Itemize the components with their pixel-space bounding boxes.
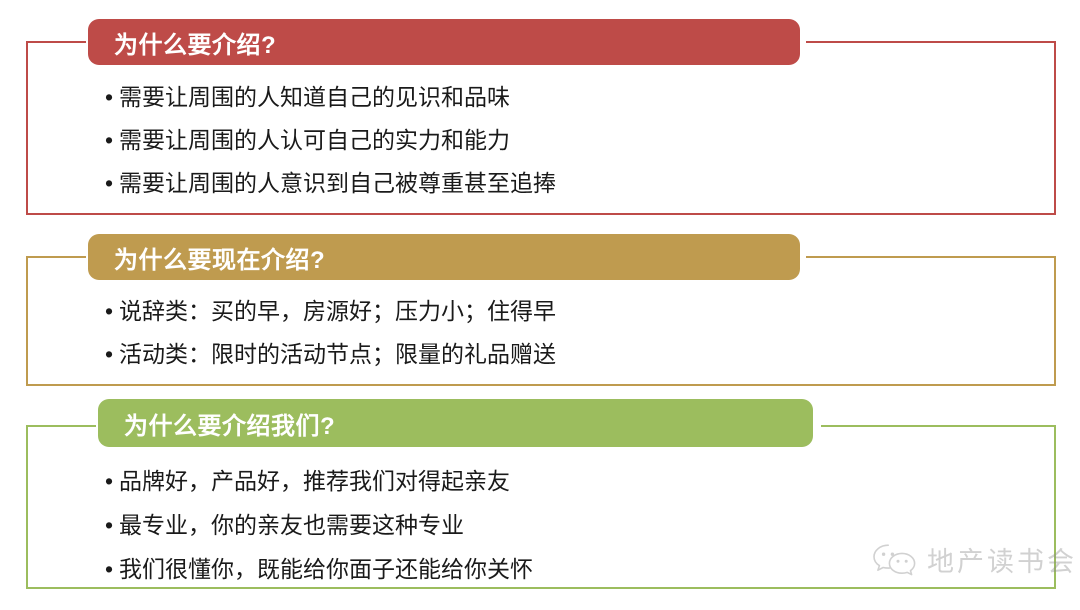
- bullet-icon: •: [105, 558, 119, 581]
- list-item: • 品牌好，产品好，推荐我们对得起亲友: [105, 470, 965, 493]
- list-item: • 需要让周围的人认可自己的实力和能力: [105, 129, 965, 152]
- list-item: • 需要让周围的人知道自己的见识和品味: [105, 86, 965, 109]
- bullet-icon: •: [105, 86, 119, 109]
- list-item-text: 需要让周围的人认可自己的实力和能力: [119, 129, 510, 152]
- list-item: • 需要让周围的人意识到自己被尊重甚至追捧: [105, 172, 965, 195]
- slide-canvas: 为什么要介绍? • 需要让周围的人知道自己的见识和品味 • 需要让周围的人认可自…: [0, 0, 1080, 610]
- bullet-icon: •: [105, 470, 119, 493]
- bullet-icon: •: [105, 129, 119, 152]
- bullet-icon: •: [105, 172, 119, 195]
- section-header-pill: 为什么要介绍我们?: [98, 399, 813, 447]
- list-item-text: 我们很懂你，既能给你面子还能给你关怀: [119, 558, 533, 581]
- bullet-list: • 说辞类：买的早，房源好；压力小；住得早 • 活动类：限时的活动节点；限量的礼…: [105, 300, 965, 366]
- bullet-icon: •: [105, 300, 119, 323]
- bullet-list: • 品牌好，产品好，推荐我们对得起亲友 • 最专业，你的亲友也需要这种专业 • …: [105, 470, 965, 581]
- watermark-text: 地产读书会: [927, 540, 1077, 579]
- list-item-text: 活动类：限时的活动节点；限量的礼品赠送: [119, 343, 556, 366]
- section-header-label: 为什么要现在介绍?: [114, 240, 325, 275]
- list-item-text: 需要让周围的人意识到自己被尊重甚至追捧: [119, 172, 556, 195]
- list-item: • 活动类：限时的活动节点；限量的礼品赠送: [105, 343, 965, 366]
- bullet-icon: •: [105, 343, 119, 366]
- wechat-icon: [872, 543, 918, 577]
- list-item-text: 最专业，你的亲友也需要这种专业: [119, 514, 464, 537]
- list-item: • 我们很懂你，既能给你面子还能给你关怀: [105, 558, 965, 581]
- section-header-pill: 为什么要现在介绍?: [88, 234, 800, 280]
- watermark: 地产读书会: [872, 540, 1077, 579]
- list-item-text: 说辞类：买的早，房源好；压力小；住得早: [119, 300, 556, 323]
- bullet-icon: •: [105, 514, 119, 537]
- list-item: • 最专业，你的亲友也需要这种专业: [105, 514, 965, 537]
- list-item: • 说辞类：买的早，房源好；压力小；住得早: [105, 300, 965, 323]
- section-header-label: 为什么要介绍?: [114, 25, 276, 60]
- bullet-list: • 需要让周围的人知道自己的见识和品味 • 需要让周围的人认可自己的实力和能力 …: [105, 86, 965, 195]
- list-item-text: 需要让周围的人知道自己的见识和品味: [119, 86, 510, 109]
- section-header-pill: 为什么要介绍?: [88, 19, 800, 65]
- list-item-text: 品牌好，产品好，推荐我们对得起亲友: [119, 470, 510, 493]
- section-header-label: 为什么要介绍我们?: [124, 406, 335, 441]
